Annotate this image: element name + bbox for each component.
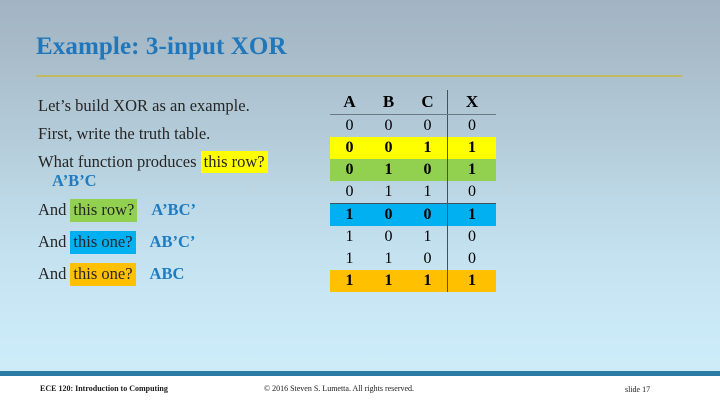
cell-b: 0 xyxy=(369,115,408,138)
column-header-c: C xyxy=(408,90,448,115)
formula-a-b-not-c-not: AB’C’ xyxy=(150,232,196,252)
cell-c: 0 xyxy=(408,115,448,138)
cell-a: 1 xyxy=(330,204,369,227)
paragraph-question-4: And this one? ABC xyxy=(38,263,318,286)
cell-b: 1 xyxy=(369,270,408,292)
paragraph-question-2: And this row? A’BC’ xyxy=(38,199,318,222)
truth-table: A B C X 0 0 0 0 0 0 1 1 xyxy=(330,90,496,292)
cell-b: 0 xyxy=(369,226,408,248)
cell-x: 0 xyxy=(448,115,497,138)
cell-a: 0 xyxy=(330,159,369,181)
table-row: 1 0 1 0 xyxy=(330,226,496,248)
column-header-x: X xyxy=(448,90,497,115)
cell-a: 1 xyxy=(330,248,369,270)
cell-x: 0 xyxy=(448,226,497,248)
column-header-b: B xyxy=(369,90,408,115)
table-row: 1 0 0 1 xyxy=(330,204,496,227)
footer-copyright: © 2016 Steven S. Lumetta. All rights res… xyxy=(264,384,414,393)
cell-a: 1 xyxy=(330,270,369,292)
formula-a-not-b-not-c: A’B’C xyxy=(52,171,97,190)
cell-c: 1 xyxy=(408,226,448,248)
footer-course-name: ECE 120: Introduction to Computing xyxy=(40,384,168,393)
paragraph-intro: Let’s build XOR as an example. xyxy=(38,96,293,115)
cell-x: 0 xyxy=(448,248,497,270)
question-3-lead: And xyxy=(38,232,66,252)
cell-b: 1 xyxy=(369,181,408,204)
cell-x: 0 xyxy=(448,181,497,204)
cell-a: 1 xyxy=(330,226,369,248)
column-header-a: A xyxy=(330,90,369,115)
cell-b: 1 xyxy=(369,248,408,270)
title-divider xyxy=(36,75,682,77)
cell-a: 0 xyxy=(330,181,369,204)
highlight-orange-this-one: this one? xyxy=(70,263,135,286)
highlight-green-this-row: this row? xyxy=(70,199,137,222)
truth-table-container: A B C X 0 0 0 0 0 0 1 1 xyxy=(330,90,495,292)
question-2-lead: And xyxy=(38,200,66,220)
slide-canvas: Example: 3-input XOR Let’s build XOR as … xyxy=(0,0,720,405)
question-4-lead: And xyxy=(38,264,66,284)
cell-c: 0 xyxy=(408,248,448,270)
truth-table-header-row: A B C X xyxy=(330,90,496,115)
cell-c: 1 xyxy=(408,181,448,204)
cell-c: 1 xyxy=(408,137,448,159)
table-row: 1 1 0 0 xyxy=(330,248,496,270)
cell-x: 1 xyxy=(448,204,497,227)
footer-slide-number: slide 17 xyxy=(625,385,650,394)
cell-c: 0 xyxy=(408,204,448,227)
paragraph-question-1: What function produces this row? A’B’C xyxy=(38,152,293,190)
cell-c: 0 xyxy=(408,159,448,181)
formula-a-not-b-c-not: A’BC’ xyxy=(151,200,196,220)
table-row: 0 1 0 1 xyxy=(330,159,496,181)
page-title: Example: 3-input XOR xyxy=(36,33,287,61)
table-row: 0 0 0 0 xyxy=(330,115,496,138)
highlight-yellow-this-row: this row? xyxy=(201,151,268,173)
highlight-blue-this-one: this one? xyxy=(70,231,135,254)
question-1-lead: What function produces xyxy=(38,152,197,171)
cell-x: 1 xyxy=(448,270,497,292)
formula-a-b-c: ABC xyxy=(150,264,185,284)
table-row: 0 1 1 0 xyxy=(330,181,496,204)
cell-c: 1 xyxy=(408,270,448,292)
cell-b: 0 xyxy=(369,204,408,227)
cell-a: 0 xyxy=(330,137,369,159)
cell-a: 0 xyxy=(330,115,369,138)
body-text-column: Let’s build XOR as an example. First, wr… xyxy=(38,96,318,295)
slide-footer: ECE 120: Introduction to Computing © 201… xyxy=(0,376,720,405)
table-row: 1 1 1 1 xyxy=(330,270,496,292)
paragraph-question-3: And this one? AB’C’ xyxy=(38,231,318,254)
paragraph-truth-table: First, write the truth table. xyxy=(38,124,318,143)
cell-b: 1 xyxy=(369,159,408,181)
cell-x: 1 xyxy=(448,137,497,159)
table-row: 0 0 1 1 xyxy=(330,137,496,159)
cell-b: 0 xyxy=(369,137,408,159)
cell-x: 1 xyxy=(448,159,497,181)
